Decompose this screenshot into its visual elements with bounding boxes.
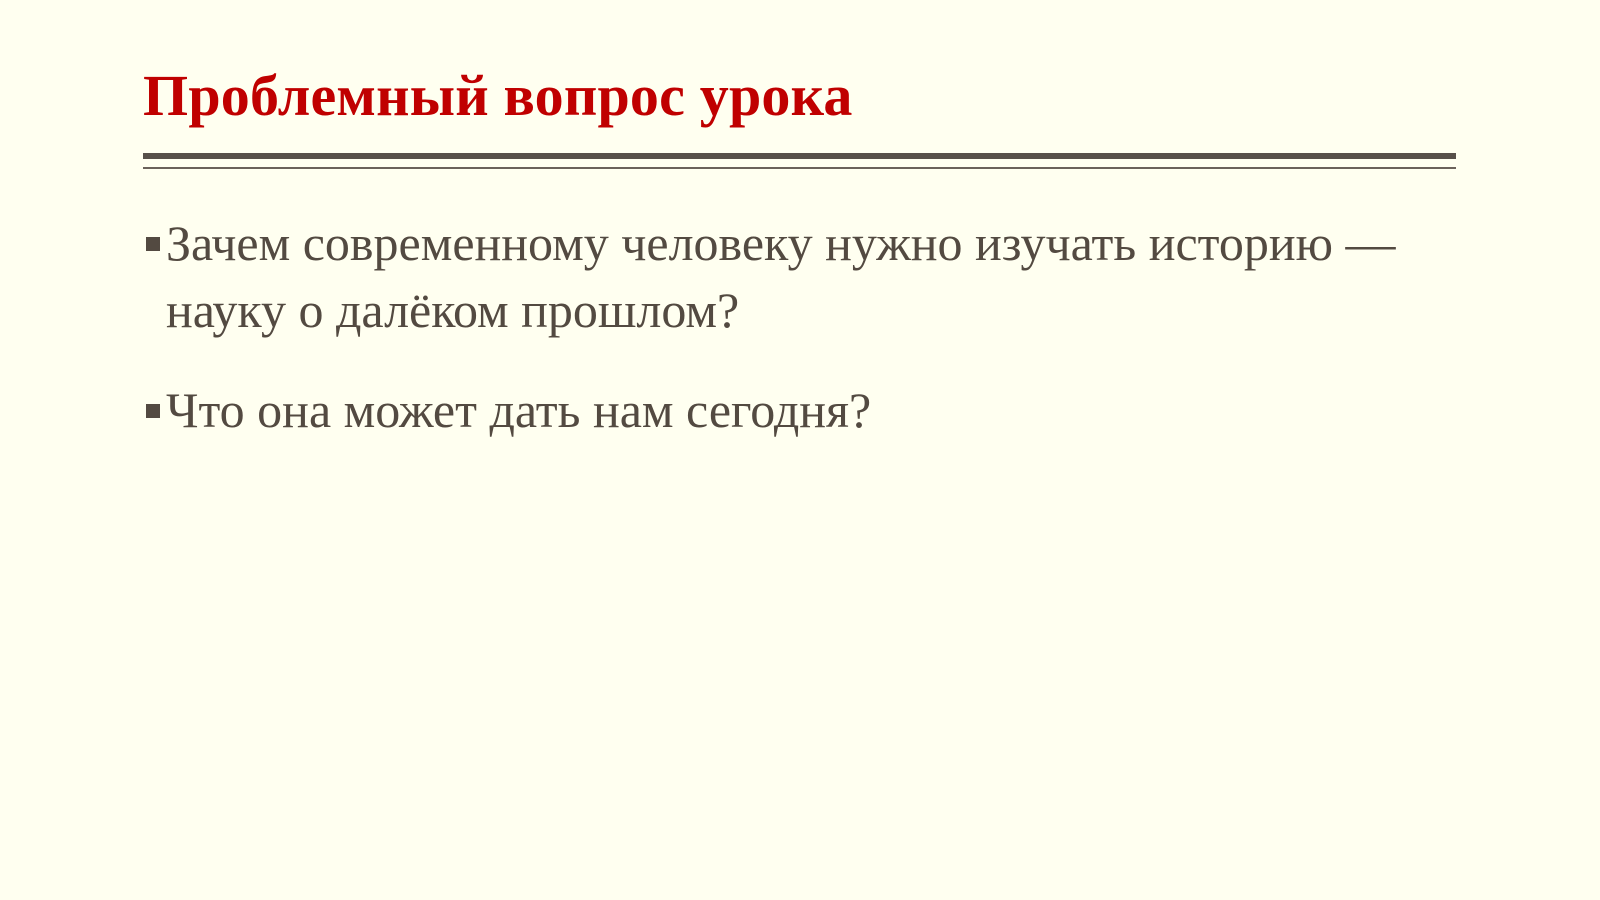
square-bullet-icon [146, 237, 160, 251]
list-item: Зачем современному человеку нужно изучат… [146, 210, 1506, 344]
title-divider [143, 153, 1456, 169]
list-item: Что она может дать нам сегодня? [146, 377, 1506, 444]
divider-gap [143, 159, 1456, 167]
slide-title: Проблемный вопрос урока [143, 66, 1456, 127]
body-content: Зачем современному человеку нужно изучат… [146, 210, 1506, 444]
list-item-label: Зачем современному человеку нужно изучат… [166, 210, 1476, 344]
divider-thin-line [143, 167, 1456, 169]
square-bullet-icon [146, 404, 160, 418]
title-block: Проблемный вопрос урока [143, 66, 1456, 127]
list-item-label: Что она может дать нам сегодня? [166, 377, 1476, 444]
presentation-slide: Проблемный вопрос урока Зачем современно… [0, 0, 1600, 900]
